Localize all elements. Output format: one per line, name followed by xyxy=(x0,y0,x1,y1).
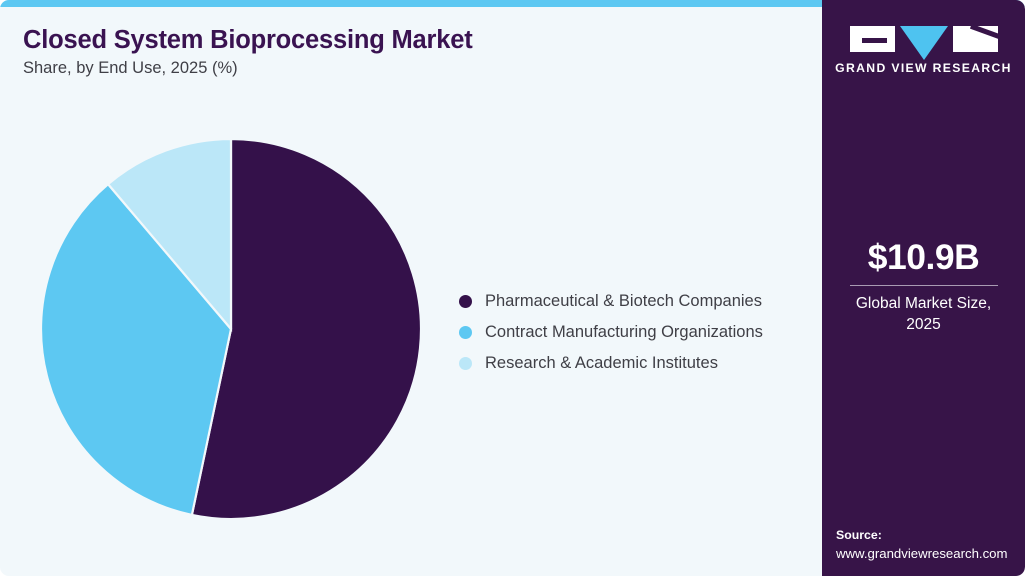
letter-r-block-icon xyxy=(953,26,998,52)
legend-dot-icon xyxy=(459,295,472,308)
letter-v-triangle-icon xyxy=(900,26,948,60)
kpi-value: $10.9B xyxy=(822,238,1025,276)
chart-legend: Pharmaceutical & Biotech Companies Contr… xyxy=(459,286,763,379)
pie-slice-group xyxy=(41,139,421,519)
legend-item-research-academic-institutes[interactable]: Research & Academic Institutes xyxy=(459,348,763,379)
legend-dot-icon xyxy=(459,326,472,339)
logo-wordmark: GRAND VIEW RESEARCH xyxy=(822,61,1025,75)
legend-dot-icon xyxy=(459,357,472,370)
legend-item-label: Pharmaceutical & Biotech Companies xyxy=(485,293,762,310)
source-label: Source: xyxy=(836,527,1008,545)
brand-sidebar: GRAND VIEW RESEARCH $10.9B Global Market… xyxy=(822,0,1025,576)
source-block: Source: www.grandviewresearch.com xyxy=(836,527,1008,562)
chart-card: Closed System Bioprocessing Market Share… xyxy=(0,0,1025,576)
legend-item-label: Contract Manufacturing Organizations xyxy=(485,324,763,341)
kpi-block: $10.9B Global Market Size, 2025 xyxy=(822,238,1025,335)
pie-chart xyxy=(41,139,422,520)
letter-g-block-icon xyxy=(850,26,895,52)
pie-chart-svg xyxy=(41,139,422,520)
legend-item-contract-manufacturing-organizations[interactable]: Contract Manufacturing Organizations xyxy=(459,317,763,348)
kpi-caption: Global Market Size, 2025 xyxy=(822,294,1025,335)
page-subtitle: Share, by End Use, 2025 (%) xyxy=(23,59,238,78)
page-title: Closed System Bioprocessing Market xyxy=(23,26,473,55)
logo-marks xyxy=(822,26,1025,54)
source-url[interactable]: www.grandviewresearch.com xyxy=(836,545,1008,562)
kpi-divider xyxy=(850,285,998,286)
grand-view-research-logo: GRAND VIEW RESEARCH xyxy=(822,26,1025,75)
legend-item-pharmaceutical-biotech-companies[interactable]: Pharmaceutical & Biotech Companies xyxy=(459,286,763,317)
legend-item-label: Research & Academic Institutes xyxy=(485,355,718,372)
